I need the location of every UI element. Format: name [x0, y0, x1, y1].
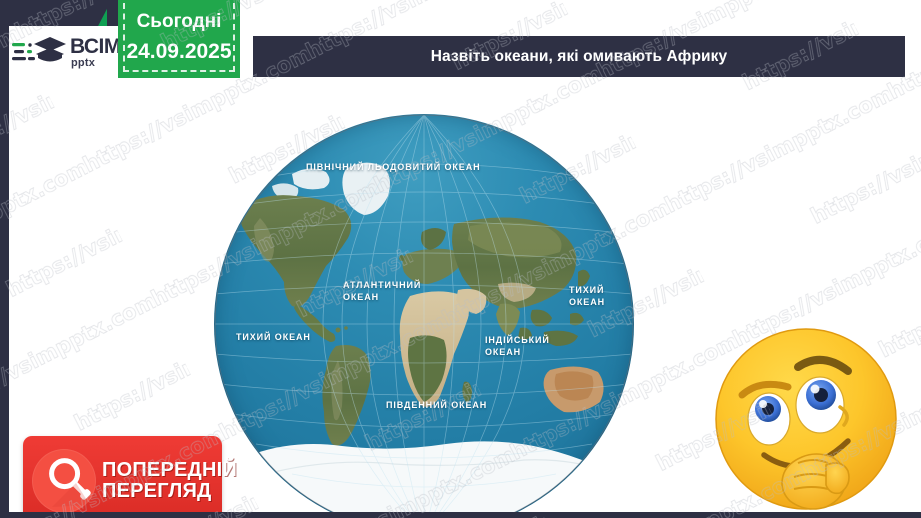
ocean-label-arctic: ПІВНІЧНИЙ ЛЬОДОВИТИЙ ОКЕАН [306, 161, 481, 173]
question-title-bar: Назвіть океани, які омивають Африку [253, 36, 905, 77]
ocean-label-atlantic: АТЛАНТИЧНИЙ ОКЕАН [343, 279, 421, 303]
today-label: Сьогодні [118, 7, 240, 37]
logo-word: ВСІМ [70, 36, 121, 57]
magnifier-icon [32, 449, 96, 512]
preview-badge-line2: ПЕРЕГЛЯД [102, 481, 237, 502]
globe-graticule-and-continents [214, 114, 634, 512]
today-date-badge: Сьогодні 24.09.2025 [118, 0, 240, 78]
preview-badge[interactable]: ПОПЕРЕДНІЙ ПЕРЕГЛЯД [23, 436, 222, 512]
slide-canvas: ПІВНІЧНИЙ ЛЬОДОВИТИЙ ОКЕАН АТЛАНТИЧНИЙ О… [0, 0, 921, 518]
graduation-cap-icon [12, 32, 66, 72]
ocean-label-pacific-right: ТИХИЙ ОКЕАН [569, 284, 605, 308]
today-date: 24.09.2025 [118, 37, 240, 67]
ocean-label-indian: ІНДІЙСЬКИЙ ОКЕАН [485, 334, 550, 358]
magnifier-glyph [32, 449, 96, 512]
brand-logo[interactable]: ВСІМ pptx [12, 26, 132, 78]
page-title: Назвіть океани, які омивають Африку [431, 48, 727, 66]
thinking-face-svg [706, 323, 914, 512]
frame-left-border [0, 0, 9, 512]
preview-badge-line1: ПОПЕРЕДНІЙ [102, 460, 237, 481]
ocean-label-southern: ПІВДЕННИЙ ОКЕАН [386, 399, 487, 411]
thinking-face-emoji [706, 323, 914, 512]
graduation-cap-glyph [12, 32, 66, 72]
preview-badge-text: ПОПЕРЕДНІЙ ПЕРЕГЛЯД [102, 460, 237, 502]
globe-sphere: ПІВНІЧНИЙ ЛЬОДОВИТИЙ ОКЕАН АТЛАНТИЧНИЙ О… [214, 114, 634, 512]
world-globe: ПІВНІЧНИЙ ЛЬОДОВИТИЙ ОКЕАН АТЛАНТИЧНИЙ О… [214, 114, 634, 512]
ocean-label-pacific-left: ТИХИЙ ОКЕАН [236, 331, 311, 343]
slide-page: ПІВНІЧНИЙ ЛЬОДОВИТИЙ ОКЕАН АТЛАНТИЧНИЙ О… [9, 26, 921, 512]
logo-wordmark: ВСІМ pptx [70, 36, 121, 69]
logo-subword: pptx [71, 58, 121, 69]
